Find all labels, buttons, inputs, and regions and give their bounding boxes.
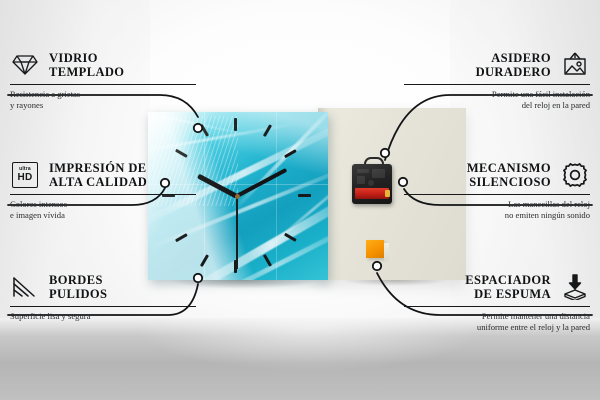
- foam-spacer-side: [384, 243, 389, 261]
- feature-title: ESPACIADOR DE ESPUMA: [465, 273, 551, 302]
- feature-asidero-duradero[interactable]: ASIDERO DURADERO Permite una fácil insta…: [404, 50, 590, 110]
- feature-bordes-pulidos[interactable]: BORDES PULIDOS Superficie lisa y segura: [10, 272, 196, 322]
- hd-badge: ultra HD: [12, 162, 38, 188]
- feature-description: Resistencia a grietas y rayones: [10, 89, 196, 110]
- mechanism-detail: [357, 169, 369, 173]
- feature-title: MECANISMO SILENCIOSO: [467, 161, 551, 190]
- battery-part: [355, 188, 389, 199]
- polished-edges-icon: [10, 272, 40, 302]
- feature-vidrio-templado[interactable]: VIDRIO TEMPLADO Resistencia a grietas y …: [10, 50, 196, 110]
- feature-divider: [404, 84, 590, 85]
- feature-title: BORDES PULIDOS: [49, 273, 107, 302]
- feature-title: VIDRIO TEMPLADO: [49, 51, 124, 80]
- wall-hanger-icon: [560, 50, 590, 80]
- feature-divider: [10, 84, 196, 85]
- feature-header: ultra HD IMPRESIÓN DE ALTA CALIDAD: [10, 160, 196, 190]
- ultra-hd-icon: ultra HD: [10, 160, 40, 190]
- feature-description: Permite una fácil instalación del reloj …: [404, 89, 590, 110]
- feature-header: ESPACIADOR DE ESPUMA: [404, 272, 590, 302]
- mechanism-detail: [357, 176, 365, 184]
- foam-spacer-part: [366, 240, 384, 258]
- battery-terminal: [385, 190, 390, 197]
- feature-divider: [404, 194, 590, 195]
- feature-description: Las manecillas del reloj no emiten ningú…: [404, 199, 590, 220]
- infographic-canvas: VIDRIO TEMPLADO Resistencia a grietas y …: [0, 0, 600, 400]
- feature-impresion-alta-calidad[interactable]: ultra HD IMPRESIÓN DE ALTA CALIDAD Color…: [10, 160, 196, 220]
- feature-description: Superficie lisa y segura: [10, 311, 196, 322]
- mechanism-shaft: [368, 180, 374, 186]
- hd-label: HD: [17, 173, 32, 183]
- feature-header: ASIDERO DURADERO: [404, 50, 590, 80]
- mechanism-detail: [372, 169, 385, 178]
- feature-title: IMPRESIÓN DE ALTA CALIDAD: [49, 161, 147, 190]
- feature-espaciador-espuma[interactable]: ESPACIADOR DE ESPUMA Permite mantener un…: [404, 272, 590, 332]
- feature-header: BORDES PULIDOS: [10, 272, 196, 302]
- feature-divider: [10, 306, 196, 307]
- gear-icon: [560, 160, 590, 190]
- feature-header: MECANISMO SILENCIOSO: [404, 160, 590, 190]
- feature-mecanismo-silencioso[interactable]: MECANISMO SILENCIOSO Las manecillas del …: [404, 160, 590, 220]
- feature-description: Permite mantener una distancia uniforme …: [404, 311, 590, 332]
- feature-header: VIDRIO TEMPLADO: [10, 50, 196, 80]
- foam-spacer-icon: [560, 272, 590, 302]
- feature-divider: [10, 194, 196, 195]
- feature-description: Colores intensos e imagen vívida: [10, 199, 196, 220]
- diamond-icon: [10, 50, 40, 80]
- feature-title: ASIDERO DURADERO: [476, 51, 551, 80]
- feature-divider: [404, 306, 590, 307]
